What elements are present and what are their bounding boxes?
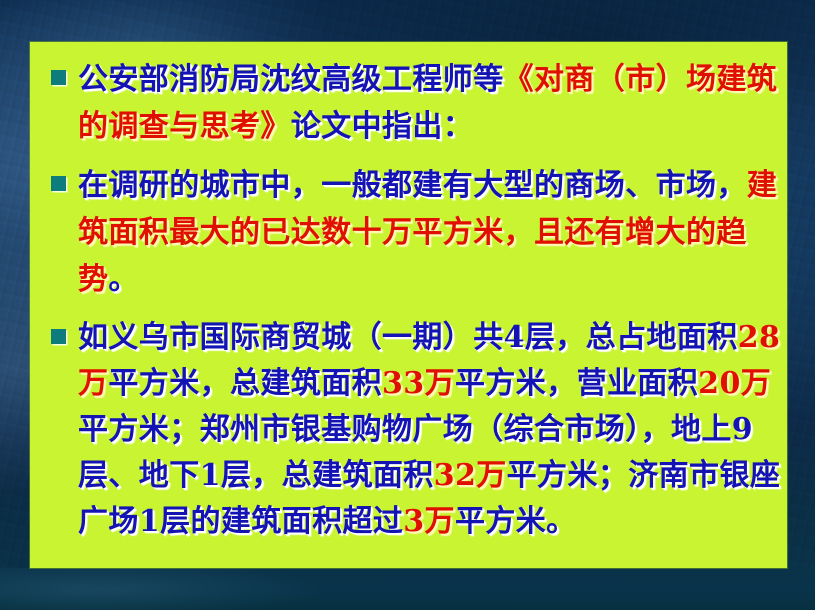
bullet-paragraph-2: 在调研的城市中，一般都建有大型的商场、市场，建筑面积最大的已达数十万平方米，且还… xyxy=(78,162,781,303)
text-run: 平方米。 xyxy=(455,504,577,539)
text-run: 在调研的城市中，一般都建有大型的商场、市场， xyxy=(78,168,747,203)
text-run: 。 xyxy=(108,262,138,297)
bullet-item-1: 公安部消防局沈纹高级工程师等《对商（市）场建筑的调查与思考》论文中指出： xyxy=(40,56,781,150)
text-run: 公安部消防局沈纹高级工程师等 xyxy=(78,62,504,97)
bullet-paragraph-3: 如义乌市国际商贸城（一期）共4层，总占地面积28万平方米，总建筑面积33万平方米… xyxy=(78,315,781,545)
square-bullet-icon xyxy=(51,176,66,191)
text-run: 如义乌市国际商贸城（一期）共4层，总占地面积 xyxy=(78,320,738,355)
text-run: 平方米，营业面积 xyxy=(455,366,698,401)
text-run: 论文中指出： xyxy=(291,109,473,144)
text-run: 20万 xyxy=(698,366,771,401)
text-run: 平方米，总建筑面积 xyxy=(108,366,382,401)
slide-body: 公安部消防局沈纹高级工程师等《对商（市）场建筑的调查与思考》论文中指出： 在调研… xyxy=(30,42,787,568)
slide-background-lower-band xyxy=(0,568,815,610)
bullet-paragraph-1: 公安部消防局沈纹高级工程师等《对商（市）场建筑的调查与思考》论文中指出： xyxy=(78,56,781,150)
presentation-slide: 公安部消防局沈纹高级工程师等《对商（市）场建筑的调查与思考》论文中指出： 在调研… xyxy=(0,0,815,610)
text-run: 33万 xyxy=(382,366,455,401)
content-panel: 公安部消防局沈纹高级工程师等《对商（市）场建筑的调查与思考》论文中指出： 在调研… xyxy=(30,42,787,568)
square-bullet-icon xyxy=(51,329,66,344)
text-run: 32万 xyxy=(434,458,507,493)
bullet-item-3: 如义乌市国际商贸城（一期）共4层，总占地面积28万平方米，总建筑面积33万平方米… xyxy=(40,315,781,545)
square-bullet-icon xyxy=(51,70,66,85)
bullet-item-2: 在调研的城市中，一般都建有大型的商场、市场，建筑面积最大的已达数十万平方米，且还… xyxy=(40,162,781,303)
text-run: 3万 xyxy=(403,504,455,539)
